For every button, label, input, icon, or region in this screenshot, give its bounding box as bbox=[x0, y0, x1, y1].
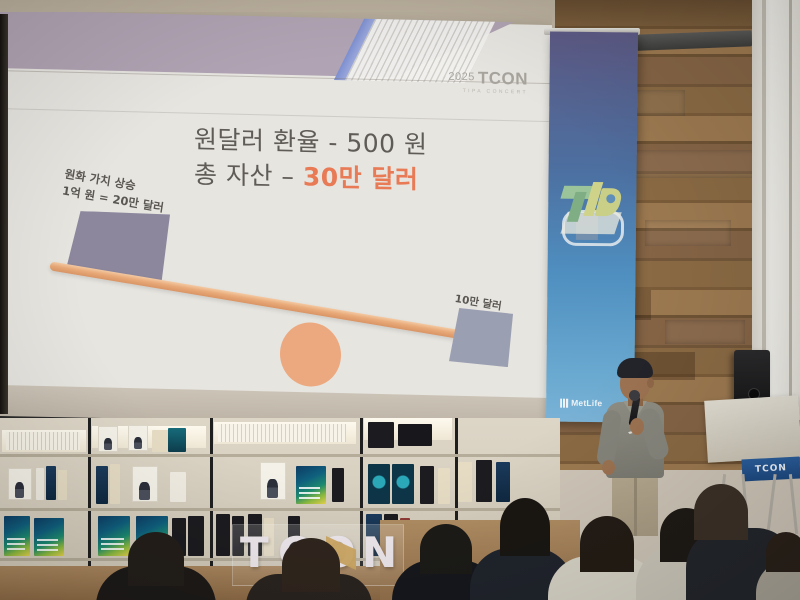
tip-letter-p-counter bbox=[606, 194, 615, 203]
book bbox=[36, 468, 44, 500]
face-out-book bbox=[98, 426, 118, 452]
book bbox=[46, 466, 56, 500]
face-out-book bbox=[128, 425, 148, 451]
prop-letter-t: T bbox=[240, 532, 269, 574]
digital-sales-process-book bbox=[296, 466, 326, 504]
presenter-right-hand bbox=[630, 418, 644, 435]
slide-top-band bbox=[0, 12, 394, 77]
book bbox=[368, 422, 394, 448]
wood-plank bbox=[665, 320, 745, 344]
presenter-left-hand bbox=[602, 460, 615, 475]
presenter-cap bbox=[617, 358, 653, 378]
book bbox=[398, 424, 432, 446]
face-out-book bbox=[8, 468, 32, 500]
digital-sales-process-book bbox=[4, 516, 30, 556]
logo-year: 2025 bbox=[448, 72, 474, 84]
book bbox=[96, 466, 108, 504]
wood-plank bbox=[645, 220, 731, 246]
metlife-wordmark: MetLife bbox=[571, 398, 602, 408]
tip-logo bbox=[560, 180, 625, 249]
book bbox=[332, 468, 344, 502]
logo-subtitle: TIPA CONCERT bbox=[448, 89, 528, 96]
book bbox=[110, 464, 120, 504]
podium-board bbox=[704, 395, 800, 463]
podium-leg bbox=[766, 474, 776, 534]
shelf-board bbox=[0, 508, 560, 511]
book-row-paper bbox=[6, 432, 80, 450]
audience-member-head bbox=[580, 516, 634, 572]
book bbox=[58, 470, 67, 500]
slide-hairline-rule bbox=[0, 108, 552, 122]
audience-member-head bbox=[694, 484, 748, 540]
book bbox=[458, 462, 472, 502]
headline-line-2-prefix: 총 자산 – bbox=[194, 160, 303, 192]
book bbox=[188, 516, 204, 556]
book bbox=[168, 428, 186, 452]
audience-member-head bbox=[500, 498, 550, 556]
face-out-book bbox=[260, 462, 286, 500]
audience-member-head bbox=[128, 532, 184, 586]
book bbox=[392, 464, 414, 504]
book-row-paper bbox=[218, 424, 346, 442]
shelf-board bbox=[0, 454, 560, 457]
metlife-mark-icon bbox=[560, 398, 568, 407]
projection-screen-region: 2025TCON TIPA CONCERT 원달러 환율 - 500 원 총 자… bbox=[0, 12, 552, 410]
seesaw-beam bbox=[49, 261, 498, 345]
presentation-slide: 2025TCON TIPA CONCERT 원달러 환율 - 500 원 총 자… bbox=[0, 12, 552, 410]
slide-headline: 원달러 환율 - 500 원 총 자산 – 30만 달러 bbox=[194, 123, 524, 199]
seesaw-right-weight-block bbox=[449, 308, 513, 368]
screen-left-edge bbox=[0, 14, 8, 414]
window-frame bbox=[789, 0, 792, 420]
logo-mark: TCON bbox=[478, 69, 528, 87]
prop-letter-n: N bbox=[362, 532, 397, 574]
face-out-book bbox=[132, 466, 158, 502]
book bbox=[438, 468, 450, 504]
presenter-leg-seam bbox=[634, 478, 637, 536]
projection-screen: 2025TCON TIPA CONCERT 원달러 환율 - 500 원 총 자… bbox=[0, 12, 552, 410]
slide-brand-logo: 2025TCON TIPA CONCERT bbox=[448, 69, 528, 96]
book bbox=[170, 472, 186, 502]
audience-member-head bbox=[282, 538, 340, 592]
presenter bbox=[600, 352, 670, 532]
book bbox=[496, 462, 510, 502]
podium-leg bbox=[789, 474, 798, 534]
seesaw-fulcrum bbox=[280, 322, 341, 387]
microphone-head bbox=[629, 390, 640, 401]
book bbox=[476, 460, 492, 502]
headline-line-2: 총 자산 – 30만 달러 bbox=[194, 158, 524, 199]
presenter-ear bbox=[647, 378, 654, 388]
book bbox=[216, 514, 230, 556]
banner-sponsor-logo: MetLife bbox=[560, 398, 602, 408]
audience-member-head bbox=[766, 532, 800, 572]
book bbox=[368, 464, 390, 504]
presentation-photo-scene: 2025TCON TIPA CONCERT 원달러 환율 - 500 원 총 자… bbox=[0, 0, 800, 600]
headline-accent-value: 30만 달러 bbox=[303, 162, 419, 194]
book bbox=[420, 466, 434, 504]
digital-sales-process-book bbox=[98, 516, 130, 556]
headline-line-1: 원달러 환율 - 500 원 bbox=[194, 125, 428, 160]
audience-member-head bbox=[420, 524, 472, 574]
digital-sales-process-book bbox=[34, 518, 64, 556]
